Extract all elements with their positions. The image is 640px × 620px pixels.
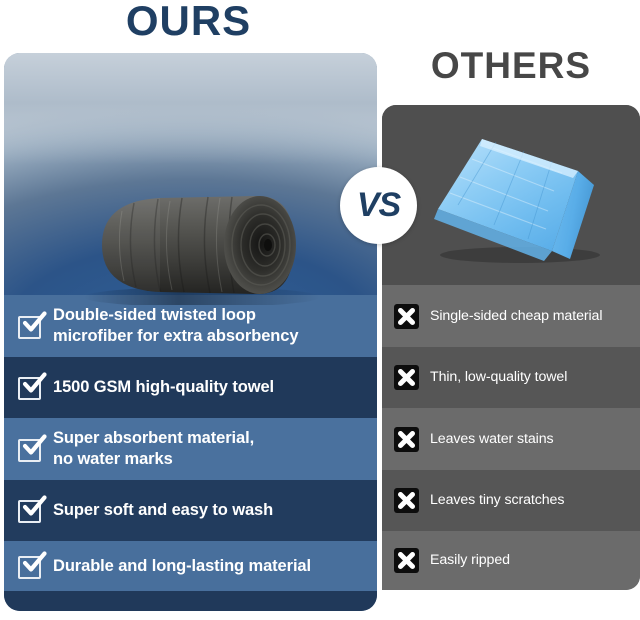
others-feature-label: Leaves water stains xyxy=(419,430,554,449)
x-mark-icon xyxy=(394,427,419,452)
x-mark-icon xyxy=(394,304,419,329)
checkbox-check-icon xyxy=(18,437,43,462)
ours-feature-label: Double-sided twisted loop microfiber for… xyxy=(43,305,298,347)
others-feature-row: Thin, low-quality towel xyxy=(382,347,640,408)
header-ours: OURS xyxy=(0,0,377,44)
ours-feature-label: 1500 GSM high-quality towel xyxy=(43,377,274,398)
ours-feature-label: Super absorbent material, no water marks xyxy=(43,428,254,470)
checkbox-check-icon xyxy=(18,375,43,400)
others-feature-label: Leaves tiny scratches xyxy=(419,491,564,510)
others-feature-row: Leaves tiny scratches xyxy=(382,470,640,531)
others-feature-row: Easily ripped xyxy=(382,531,640,590)
others-feature-row: Leaves water stains xyxy=(382,408,640,470)
ours-feature-list: Double-sided twisted loop microfiber for… xyxy=(4,295,377,611)
rolled-towel-icon xyxy=(62,187,324,305)
others-feature-label: Single-sided cheap material xyxy=(419,307,602,326)
ours-feature-label: Super soft and easy to wash xyxy=(43,500,273,521)
checkbox-check-icon xyxy=(18,498,43,523)
panel-ours: Double-sided twisted loop microfiber for… xyxy=(4,53,377,611)
others-product-photo xyxy=(382,105,640,285)
vs-label: VS xyxy=(357,188,400,222)
vs-badge: VS xyxy=(340,167,417,244)
others-feature-label: Easily ripped xyxy=(419,551,510,570)
checkbox-check-icon xyxy=(18,554,43,579)
ours-product-photo xyxy=(4,53,377,295)
ours-feature-row: 1500 GSM high-quality towel xyxy=(4,357,377,418)
comparison-infographic: OURS OTHERS xyxy=(0,0,640,620)
folded-cloth-icon xyxy=(412,133,612,268)
header-others: OTHERS xyxy=(382,45,640,87)
others-feature-row: Single-sided cheap material xyxy=(382,285,640,347)
ours-feature-label: Durable and long-lasting material xyxy=(43,556,311,577)
x-mark-icon xyxy=(394,548,419,573)
x-mark-icon xyxy=(394,488,419,513)
others-feature-list: Single-sided cheap material Thin, low-qu… xyxy=(382,285,640,590)
ours-feature-row: Super soft and easy to wash xyxy=(4,480,377,541)
ours-panel-footer xyxy=(4,591,377,611)
others-feature-label: Thin, low-quality towel xyxy=(419,368,567,387)
x-mark-icon xyxy=(394,365,419,390)
ours-feature-row: Super absorbent material, no water marks xyxy=(4,418,377,480)
panel-others: Single-sided cheap material Thin, low-qu… xyxy=(382,105,640,590)
checkbox-check-icon xyxy=(18,314,43,339)
ours-feature-row: Durable and long-lasting material xyxy=(4,541,377,591)
